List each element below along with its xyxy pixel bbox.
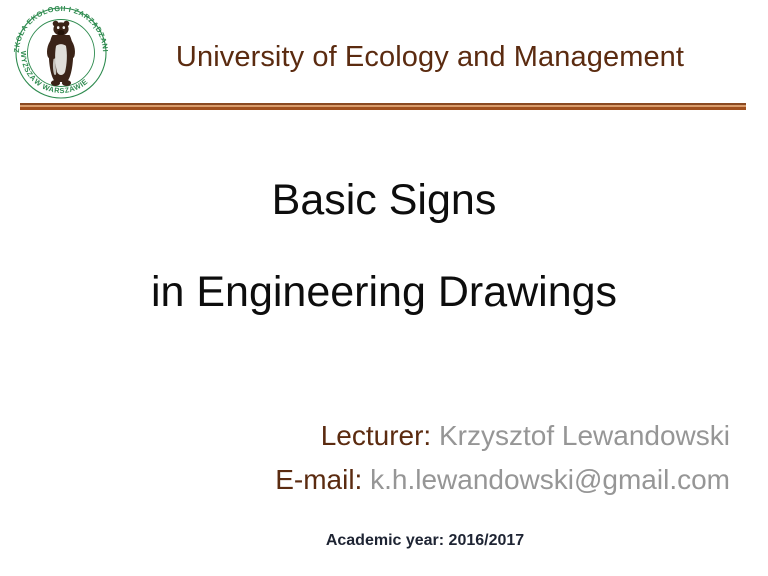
slide-title-line-2: in Engineering Drawings [0, 270, 768, 314]
page-title: University of Ecology and Management [120, 40, 740, 74]
slide-title-line-1: Basic Signs [0, 178, 768, 222]
lecturer-line: Lecturer: Krzysztof Lewandowski [120, 414, 730, 458]
slide-title-block: Basic Signs in Engineering Drawings [0, 178, 768, 314]
header-divider [20, 103, 746, 110]
academic-year-label: Academic year: 2016/2017 [120, 530, 730, 552]
contact-block: Lecturer: Krzysztof Lewandowski E-mail: … [120, 414, 730, 502]
divider-band-base [20, 107, 746, 110]
slide-header: SZKOŁA EKOLOGII I ZARZĄDZANIA W WARSZAWI… [0, 0, 768, 100]
svg-text:WYŻSZA: WYŻSZA [19, 51, 39, 84]
university-bear-emblem-icon: SZKOŁA EKOLOGII I ZARZĄDZANIA W WARSZAWI… [10, 4, 112, 102]
email-label: E-mail: [275, 464, 362, 495]
email-address[interactable]: k.h.lewandowski@gmail.com [370, 464, 730, 495]
lecturer-label: Lecturer: [321, 420, 432, 451]
lecturer-name: Krzysztof Lewandowski [439, 420, 730, 451]
email-line: E-mail: k.h.lewandowski@gmail.com [120, 458, 730, 502]
presentation-slide: SZKOŁA EKOLOGII I ZARZĄDZANIA W WARSZAWI… [0, 0, 768, 576]
